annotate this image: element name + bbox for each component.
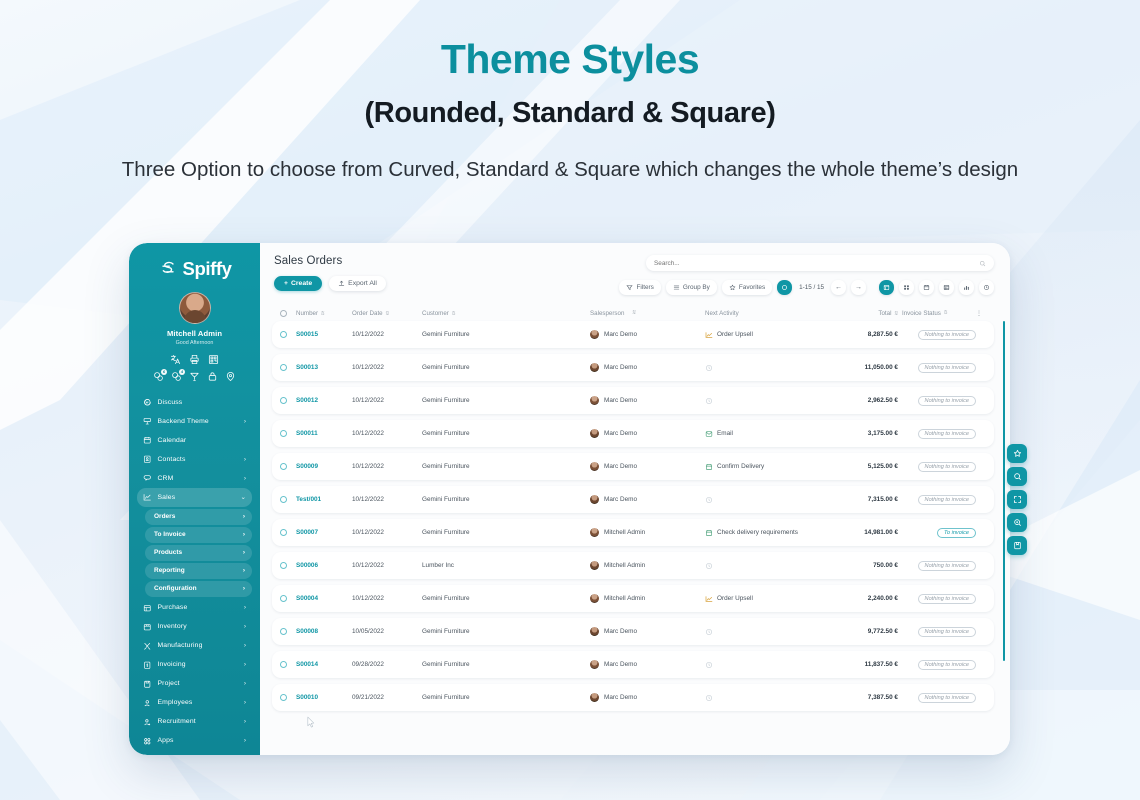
cell-customer: Gemini Furniture xyxy=(422,463,590,470)
table-row[interactable]: S0001310/12/2022Gemini FurnitureMarc Dem… xyxy=(272,354,994,381)
cell-next-activity xyxy=(705,496,832,504)
cell-next-activity xyxy=(705,397,832,405)
star-icon xyxy=(1013,449,1022,458)
cell-salesperson: Mitchell Admin xyxy=(590,528,705,537)
cell-customer: Gemini Furniture xyxy=(422,364,590,371)
group-by-label: Group By xyxy=(683,284,710,291)
sidebar-item-employees[interactable]: Employees › xyxy=(137,694,252,713)
sidebar-subitem-configuration[interactable]: Configuration › xyxy=(145,581,252,597)
plus-icon: + xyxy=(284,280,288,287)
cell-next-activity xyxy=(705,562,832,570)
cell-customer: Gemini Furniture xyxy=(422,331,590,338)
chevron-right-icon: › xyxy=(244,718,246,725)
app-window: Spiffy Mitchell Admin Good Afternoon xyxy=(129,243,1010,755)
clock-icon xyxy=(705,397,713,405)
table-row[interactable]: S0000910/12/2022Gemini FurnitureMarc Dem… xyxy=(272,453,994,480)
row-checkbox[interactable] xyxy=(280,628,296,635)
cell-order-date: 10/12/2022 xyxy=(352,430,422,437)
table-row[interactable]: S0000410/12/2022Gemini FurnitureMitchell… xyxy=(272,585,994,612)
export-icon xyxy=(338,280,345,287)
status-badge: Nothing to invoice xyxy=(918,627,976,637)
cell-salesperson: Marc Demo xyxy=(590,495,705,504)
cell-salesperson: Marc Demo xyxy=(590,429,705,438)
sidebar-sublabel: Products xyxy=(154,549,243,556)
cell-order-date: 10/12/2022 xyxy=(352,397,422,404)
orders-table: Number⇅ Order Date⇅ Customer⇅ Salesperso… xyxy=(260,305,1010,755)
cell-order-date: 10/12/2022 xyxy=(352,463,422,470)
chevron-right-icon: › xyxy=(244,680,246,687)
cursor-icon xyxy=(306,716,317,731)
chevron-right-icon: › xyxy=(243,585,245,592)
cell-next-activity: Confirm Delivery xyxy=(705,463,832,471)
clock-icon xyxy=(705,628,713,636)
chart-upsell-icon xyxy=(705,595,713,603)
cell-number[interactable]: S00006 xyxy=(296,562,352,569)
sidebar-subitem-reporting[interactable]: Reporting › xyxy=(145,563,252,579)
row-checkbox[interactable] xyxy=(280,430,296,437)
bookmark-icon xyxy=(1013,541,1022,550)
favorites-button[interactable]: Favorites xyxy=(722,280,772,295)
cell-next-activity xyxy=(705,364,832,372)
sidebar-sublabel: Configuration xyxy=(154,585,243,592)
cell-order-date: 10/12/2022 xyxy=(352,496,422,503)
next-page-button[interactable]: → xyxy=(851,280,866,295)
cell-next-activity: Check delivery requirements xyxy=(705,529,832,537)
sidebar-item-purchase[interactable]: Purchase › xyxy=(137,599,252,618)
cell-customer: Gemini Furniture xyxy=(422,397,590,404)
cell-order-date: 10/12/2022 xyxy=(352,595,422,602)
translate-icon[interactable] xyxy=(170,354,181,365)
filter-icon xyxy=(626,284,633,291)
chevron-right-icon: › xyxy=(243,531,245,538)
cell-customer: Gemini Furniture xyxy=(422,628,590,635)
table-row[interactable]: S0001210/12/2022Gemini FurnitureMarc Dem… xyxy=(272,387,994,414)
sidebar-label: Discuss xyxy=(158,399,247,406)
search-button[interactable] xyxy=(1007,467,1027,486)
calendar-icon xyxy=(143,436,152,445)
cell-customer: Gemini Furniture xyxy=(422,595,590,602)
sidebar-item-crm[interactable]: CRM › xyxy=(137,469,252,488)
cell-invoice-status: Nothing to invoice xyxy=(898,462,976,472)
status-badge: Nothing to invoice xyxy=(918,561,976,571)
cell-total: 2,240.00 € xyxy=(832,595,898,602)
location-pin-icon[interactable] xyxy=(225,371,236,382)
recruitment-icon xyxy=(143,718,152,727)
fullscreen-button[interactable] xyxy=(1007,490,1027,509)
cell-next-activity xyxy=(705,661,832,669)
cell-next-activity: Order Upsell xyxy=(705,595,832,603)
table-row[interactable]: S0001510/12/2022Gemini FurnitureMarc Dem… xyxy=(272,321,994,348)
chevron-right-icon: › xyxy=(244,737,246,744)
graph-view-icon xyxy=(963,284,970,291)
floating-toolbar xyxy=(1007,444,1027,555)
status-badge: Nothing to invoice xyxy=(918,495,976,505)
cell-salesperson: Marc Demo xyxy=(590,462,705,471)
messages-icon[interactable]: 6 xyxy=(153,371,164,382)
quick-icons-row-2: 6 4 xyxy=(137,371,252,382)
sidebar-label: Sales xyxy=(158,494,235,501)
group-by-icon xyxy=(673,284,680,291)
list-view-icon xyxy=(883,284,890,291)
page-title: Theme Styles xyxy=(0,36,1140,83)
user-name: Mitchell Admin xyxy=(137,329,252,338)
sidebar-subitem-to-invoice[interactable]: To Invoice › xyxy=(145,527,252,543)
activity-label: Check delivery requirements xyxy=(717,529,798,536)
search-input[interactable] xyxy=(654,260,979,267)
sidebar-item-recruitment[interactable]: Recruitment › xyxy=(137,713,252,732)
sidebar-label: Recruitment xyxy=(158,718,238,725)
sidebar-item-apps[interactable]: Apps › xyxy=(137,732,252,751)
status-badge: Nothing to invoice xyxy=(918,363,976,373)
chart-upsell-icon xyxy=(705,331,713,339)
fullscreen-icon xyxy=(1013,495,1022,504)
cell-invoice-status: Nothing to invoice xyxy=(898,627,976,637)
column-header-total[interactable]: Total⇅ xyxy=(832,310,898,317)
status-badge: To invoice xyxy=(937,528,976,538)
cell-order-date: 09/28/2022 xyxy=(352,661,422,668)
cell-salesperson: Mitchell Admin xyxy=(590,561,705,570)
chevron-down-icon: ⌄ xyxy=(241,493,246,501)
sidebar-item-sales[interactable]: Sales ⌄ xyxy=(137,488,252,507)
cell-customer: Gemini Furniture xyxy=(422,496,590,503)
status-badge: Nothing to invoice xyxy=(918,429,976,439)
discuss-icon xyxy=(143,398,152,407)
sidebar-item-inventory[interactable]: Inventory › xyxy=(137,618,252,637)
user-greeting: Good Afternoon xyxy=(137,340,252,346)
chevron-right-icon: › xyxy=(244,661,246,668)
cell-number[interactable]: S00015 xyxy=(296,331,352,338)
sidebar-sublabel: Orders xyxy=(154,513,243,520)
invoicing-icon xyxy=(143,661,152,670)
page-description: Three Option to choose from Curved, Stan… xyxy=(0,156,1140,184)
status-badge: Nothing to invoice xyxy=(918,660,976,670)
row-checkbox[interactable] xyxy=(280,397,296,404)
cell-order-date: 10/12/2022 xyxy=(352,562,422,569)
row-checkbox[interactable] xyxy=(280,496,296,503)
search-box[interactable] xyxy=(646,255,994,271)
sidebar-label: Apps xyxy=(158,737,238,744)
bookmark-button[interactable] xyxy=(1007,536,1027,555)
clock-icon xyxy=(705,694,713,702)
cell-next-activity xyxy=(705,628,832,636)
status-badge: Nothing to invoice xyxy=(918,594,976,604)
activity-label: Confirm Delivery xyxy=(717,463,764,470)
toolbar-right: Filters Group By Favorites xyxy=(604,255,994,305)
clock-icon xyxy=(705,364,713,372)
cell-total: 750.00 € xyxy=(832,562,898,569)
cell-total: 14,981.00 € xyxy=(832,529,898,536)
cell-customer: Gemini Furniture xyxy=(422,430,590,437)
chevron-right-icon: › xyxy=(244,642,246,649)
megaphone-icon[interactable] xyxy=(189,371,200,382)
cell-invoice-status: Nothing to invoice xyxy=(898,561,976,571)
sidebar-item-project[interactable]: Project › xyxy=(137,675,252,694)
activity-label: Email xyxy=(717,430,733,437)
sidebar-label: CRM xyxy=(158,475,238,482)
column-header-salesperson[interactable]: Salesperson⇅ xyxy=(590,310,705,317)
chevron-right-icon: › xyxy=(244,604,246,611)
cell-salesperson: Marc Demo xyxy=(590,396,705,405)
circle-icon xyxy=(781,284,788,291)
sidebar-label: Backend Theme xyxy=(158,418,238,425)
column-header-number[interactable]: Number⇅ xyxy=(296,310,352,317)
cell-number[interactable]: S00013 xyxy=(296,364,352,371)
table-row[interactable]: S0000810/05/2022Gemini FurnitureMarc Dem… xyxy=(272,618,994,645)
list-view-button[interactable] xyxy=(879,280,894,295)
mouse-cursor xyxy=(306,716,317,731)
cell-total: 11,837.50 € xyxy=(832,661,898,668)
apps-icon xyxy=(143,737,152,746)
sidebar-subitem-orders[interactable]: Orders › xyxy=(145,509,252,525)
messages-badge: 6 xyxy=(161,369,167,375)
row-checkbox[interactable] xyxy=(280,562,296,569)
table-header-row: Number⇅ Order Date⇅ Customer⇅ Salesperso… xyxy=(272,305,994,321)
activity-label: Order Upsell xyxy=(717,331,753,338)
cell-order-date: 10/12/2022 xyxy=(352,364,422,371)
sidebar-item-invoicing[interactable]: Invoicing › xyxy=(137,656,252,675)
cell-number[interactable]: S00004 xyxy=(296,595,352,602)
manufacturing-icon xyxy=(143,642,152,651)
cell-salesperson: Marc Demo xyxy=(590,693,705,702)
column-header-next-activity[interactable]: Next Activity xyxy=(705,310,832,317)
calendar-green-icon xyxy=(705,529,713,537)
table-row[interactable]: Test/00110/12/2022Gemini FurnitureMarc D… xyxy=(272,486,994,513)
export-all-button[interactable]: Export All xyxy=(329,276,386,291)
calendar-view-icon xyxy=(923,284,930,291)
favorites-label: Favorites xyxy=(739,284,765,291)
cell-salesperson: Marc Demo xyxy=(590,627,705,636)
cell-invoice-status: Nothing to invoice xyxy=(898,495,976,505)
quick-icons-row-1 xyxy=(137,354,252,365)
cell-invoice-status: To invoice xyxy=(898,528,976,538)
table-body: S0001510/12/2022Gemini FurnitureMarc Dem… xyxy=(272,321,994,711)
sidebar-item-settings[interactable]: Settings › xyxy=(137,751,252,756)
chat-icon[interactable]: 4 xyxy=(171,371,182,382)
cell-number[interactable]: S00014 xyxy=(296,661,352,668)
chevron-right-icon: › xyxy=(244,456,246,463)
purchase-icon xyxy=(143,604,152,613)
sidebar-label: Purchase xyxy=(158,604,238,611)
chevron-right-icon: › xyxy=(243,513,245,520)
chevron-right-icon: › xyxy=(244,699,246,706)
avatar xyxy=(590,462,599,471)
email-icon xyxy=(705,430,713,438)
cell-customer: Gemini Furniture xyxy=(422,694,590,701)
row-checkbox[interactable] xyxy=(280,364,296,371)
cell-invoice-status: Nothing to invoice xyxy=(898,363,976,373)
search-icon xyxy=(979,260,986,267)
sidebar-item-contacts[interactable]: Contacts › xyxy=(137,450,252,469)
action-buttons: + Create Export All xyxy=(274,276,604,291)
chevron-right-icon: › xyxy=(244,418,246,425)
cell-invoice-status: Nothing to invoice xyxy=(898,594,976,604)
pivot-view-icon xyxy=(943,284,950,291)
row-checkbox[interactable] xyxy=(280,331,296,338)
cell-salesperson: Marc Demo xyxy=(590,330,705,339)
qr-code-icon[interactable] xyxy=(208,354,219,365)
prev-page-button[interactable]: ← xyxy=(831,280,846,295)
sidebar-sublabel: Reporting xyxy=(154,567,243,574)
calendar-view-button[interactable] xyxy=(919,280,934,295)
cell-customer: Gemini Furniture xyxy=(422,661,590,668)
cell-next-activity: Email xyxy=(705,430,832,438)
sidebar-label: Contacts xyxy=(158,456,238,463)
toolbar: Sales Orders + Create Export All xyxy=(260,243,1010,305)
sidebar-subitem-products[interactable]: Products › xyxy=(145,545,252,561)
table-row[interactable]: S0001009/21/2022Gemini FurnitureMarc Dem… xyxy=(272,684,994,711)
sidebar-item-manufacturing[interactable]: Manufacturing › xyxy=(137,637,252,656)
sidebar-sublabel: To Invoice xyxy=(154,531,243,538)
calendar-green-icon xyxy=(705,463,713,471)
star-button[interactable] xyxy=(1007,444,1027,463)
avatar xyxy=(179,292,211,324)
cell-invoice-status: Nothing to invoice xyxy=(898,429,976,439)
cell-total: 8,287.50 € xyxy=(832,331,898,338)
chevron-right-icon: › xyxy=(244,623,246,630)
row-checkbox[interactable] xyxy=(280,463,296,470)
cell-total: 11,050.00 € xyxy=(832,364,898,371)
crm-icon xyxy=(143,474,152,483)
cell-invoice-status: Nothing to invoice xyxy=(898,693,976,703)
sidebar-nav: Discuss Backend Theme › Calendar Contact… xyxy=(137,393,252,755)
clock-icon xyxy=(705,562,713,570)
column-header-customer[interactable]: Customer⇅ xyxy=(422,310,590,317)
status-badge: Nothing to invoice xyxy=(918,396,976,406)
cell-number[interactable]: S00012 xyxy=(296,397,352,404)
avatar xyxy=(590,396,599,405)
export-label: Export All xyxy=(348,280,377,287)
inventory-icon xyxy=(143,623,152,632)
avatar xyxy=(590,693,599,702)
employees-icon xyxy=(143,699,152,708)
zoom-in-icon xyxy=(1013,518,1022,527)
filters-label: Filters xyxy=(636,284,653,291)
kanban-view-button[interactable] xyxy=(899,280,914,295)
row-checkbox[interactable] xyxy=(280,661,296,668)
cell-customer: Gemini Furniture xyxy=(422,529,590,536)
control-row: Filters Group By Favorites xyxy=(619,280,994,295)
clock-icon xyxy=(705,496,713,504)
avatar xyxy=(590,495,599,504)
avatar xyxy=(590,660,599,669)
kanban-view-icon xyxy=(903,284,910,291)
activity-view-button[interactable] xyxy=(979,280,994,295)
cell-order-date: 10/05/2022 xyxy=(352,628,422,635)
table-row[interactable]: S0000610/12/2022Lumber IncMitchell Admin… xyxy=(272,552,994,579)
main-content: Sales Orders + Create Export All xyxy=(260,243,1010,755)
cell-salesperson: Mitchell Admin xyxy=(590,594,705,603)
chevron-right-icon: › xyxy=(244,475,246,482)
row-checkbox[interactable] xyxy=(280,694,296,701)
sidebar-label: Employees xyxy=(158,699,238,706)
row-checkbox[interactable] xyxy=(280,529,296,536)
column-header-invoice-status[interactable]: Invoice Status⇅ xyxy=(898,310,976,317)
arrow-right-icon: → xyxy=(855,284,862,291)
sidebar-label: Manufacturing xyxy=(158,642,238,649)
pager-label: 1-15 / 15 xyxy=(799,284,824,291)
sidebar-label: Invoicing xyxy=(158,661,238,668)
avatar xyxy=(590,561,599,570)
search-icon xyxy=(1013,472,1022,481)
cell-number[interactable]: S00008 xyxy=(296,628,352,635)
filters-button[interactable]: Filters xyxy=(619,280,660,295)
refresh-button[interactable] xyxy=(777,280,792,295)
arrow-left-icon: ← xyxy=(835,284,842,291)
print-icon[interactable] xyxy=(189,354,200,365)
page-subtitle: (Rounded, Standard & Square) xyxy=(0,97,1140,130)
brand-name: Spiffy xyxy=(183,258,232,280)
cell-salesperson: Marc Demo xyxy=(590,363,705,372)
group-by-button[interactable]: Group By xyxy=(666,280,717,295)
create-button[interactable]: + Create xyxy=(274,276,322,291)
chat-badge: 4 xyxy=(179,369,185,375)
cell-invoice-status: Nothing to invoice xyxy=(898,330,976,340)
cell-number[interactable]: S00011 xyxy=(296,430,352,437)
table-row[interactable]: S0001409/28/2022Gemini FurnitureMarc Dem… xyxy=(272,651,994,678)
row-checkbox[interactable] xyxy=(280,595,296,602)
cell-total: 3,175.00 € xyxy=(832,430,898,437)
cell-next-activity xyxy=(705,694,832,702)
sidebar-item-calendar[interactable]: Calendar xyxy=(137,431,252,450)
table-row[interactable]: S0000710/12/2022Gemini FurnitureMitchell… xyxy=(272,519,994,546)
select-all-checkbox[interactable] xyxy=(280,310,296,317)
column-header-order-date[interactable]: Order Date⇅ xyxy=(352,310,422,317)
cell-total: 7,315.00 € xyxy=(832,496,898,503)
graph-view-button[interactable] xyxy=(959,280,974,295)
user-profile[interactable]: Mitchell Admin Good Afternoon xyxy=(137,292,252,346)
avatar xyxy=(590,627,599,636)
cell-number[interactable]: S00010 xyxy=(296,694,352,701)
zoom-in-button[interactable] xyxy=(1007,513,1027,532)
cell-invoice-status: Nothing to invoice xyxy=(898,396,976,406)
column-header-options[interactable]: ⋮ xyxy=(976,310,986,317)
table-row[interactable]: S0001110/12/2022Gemini FurnitureMarc Dem… xyxy=(272,420,994,447)
contacts-icon xyxy=(143,455,152,464)
sidebar-label: Inventory xyxy=(158,623,238,630)
cell-number[interactable]: Test/001 xyxy=(296,496,352,503)
vertical-scrollbar[interactable] xyxy=(1003,321,1006,661)
clock-icon xyxy=(705,661,713,669)
cell-salesperson: Marc Demo xyxy=(590,660,705,669)
chevron-right-icon: › xyxy=(243,549,245,556)
brand-logo[interactable]: Spiffy xyxy=(137,258,252,280)
cell-customer: Lumber Inc xyxy=(422,562,590,569)
headline-block: Theme Styles (Rounded, Standard & Square… xyxy=(0,0,1140,184)
status-badge: Nothing to invoice xyxy=(918,462,976,472)
spiffy-logo-icon xyxy=(158,259,178,279)
cell-invoice-status: Nothing to invoice xyxy=(898,660,976,670)
sidebar-label: Calendar xyxy=(158,437,247,444)
sales-icon xyxy=(143,493,152,502)
status-badge: Nothing to invoice xyxy=(918,330,976,340)
pivot-view-button[interactable] xyxy=(939,280,954,295)
sidebar-item-backend-theme[interactable]: Backend Theme › xyxy=(137,412,252,431)
cell-number[interactable]: S00007 xyxy=(296,529,352,536)
sidebar: Spiffy Mitchell Admin Good Afternoon xyxy=(129,243,260,755)
avatar xyxy=(590,594,599,603)
sidebar-item-discuss[interactable]: Discuss xyxy=(137,393,252,412)
avatar xyxy=(590,429,599,438)
avatar xyxy=(590,528,599,537)
cell-order-date: 10/12/2022 xyxy=(352,529,422,536)
toolbar-left: Sales Orders + Create Export All xyxy=(274,255,604,305)
avatar xyxy=(590,363,599,372)
status-badge: Nothing to invoice xyxy=(918,693,976,703)
cell-total: 2,962.50 € xyxy=(832,397,898,404)
cell-number[interactable]: S00009 xyxy=(296,463,352,470)
lock-icon[interactable] xyxy=(207,371,218,382)
cell-total: 9,772.50 € xyxy=(832,628,898,635)
